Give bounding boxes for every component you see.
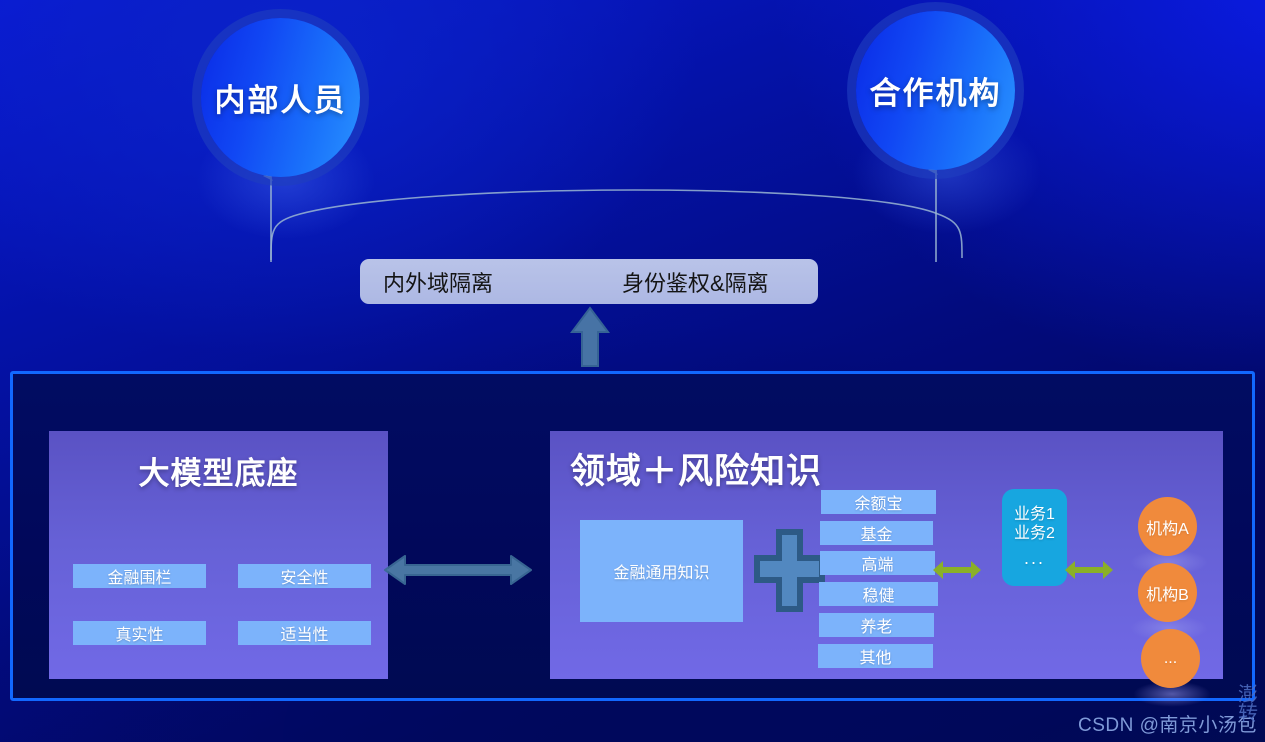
knowledge-tag-5[interactable]: 其他 [818, 644, 933, 668]
banner-label-domain-isolation: 内外域隔离 [372, 266, 622, 298]
foundation-title: 大模型底座 [49, 448, 388, 493]
knowledge-tag-4[interactable]: 养老 [819, 613, 934, 637]
foundation-chip-1[interactable]: 安全性 [238, 564, 371, 588]
knowledge-tag-1[interactable]: 基金 [820, 521, 933, 545]
knowledge-tag-0[interactable]: 余额宝 [821, 490, 936, 514]
foundation-chip-0[interactable]: 金融围栏 [73, 564, 206, 588]
panel-knowledge: 领域＋风险知识 金融通用知识 余额宝 基金 高端 稳健 养老 其他 业务1 业务… [550, 431, 1223, 679]
banner-label-identity-auth: 身份鉴权&隔离 [622, 266, 806, 298]
watermark-edge: 澎 转 [1231, 686, 1265, 724]
actor-label-internal: 内部人员 [215, 75, 347, 120]
institution-circle-more[interactable]: ... [1141, 629, 1200, 688]
business-more: ... [1024, 548, 1045, 569]
slide-canvas: 内部人员 合作机构 内外域隔离 身份鉴权&隔离 大模型底座 金融围栏 安全性 真… [0, 0, 1265, 742]
knowledge-tag-3[interactable]: 稳健 [819, 582, 938, 606]
business-box[interactable]: 业务1 业务2 ... [1002, 489, 1067, 586]
actor-bubble-partner[interactable]: 合作机构 [856, 11, 1015, 170]
platform-container: 大模型底座 金融围栏 安全性 真实性 适当性 领域＋风险知识 金融通用知识 余额… [10, 371, 1255, 701]
panel-foundation: 大模型底座 金融围栏 安全性 真实性 适当性 [49, 431, 388, 679]
plus-icon [753, 528, 826, 613]
isolation-banner[interactable]: 内外域隔离 身份鉴权&隔离 [360, 259, 818, 304]
arrow-up-icon [568, 306, 612, 368]
actor-bubble-internal[interactable]: 内部人员 [201, 18, 360, 177]
actor-label-partner: 合作机构 [870, 68, 1002, 113]
business-line-2: 业务2 [1014, 525, 1055, 543]
knowledge-tag-2[interactable]: 高端 [820, 551, 935, 575]
knowledge-base-block[interactable]: 金融通用知识 [580, 520, 743, 622]
institution-circle-a[interactable]: 机构A [1138, 497, 1197, 556]
institution-circle-b[interactable]: 机构B [1138, 563, 1197, 622]
business-line-1: 业务1 [1014, 506, 1055, 524]
knowledge-title: 领域＋风险知识 [570, 443, 822, 494]
foundation-chip-2[interactable]: 真实性 [73, 621, 206, 645]
foundation-chip-3[interactable]: 适当性 [238, 621, 371, 645]
watermark-edge-bottom: 转 [1231, 705, 1265, 724]
